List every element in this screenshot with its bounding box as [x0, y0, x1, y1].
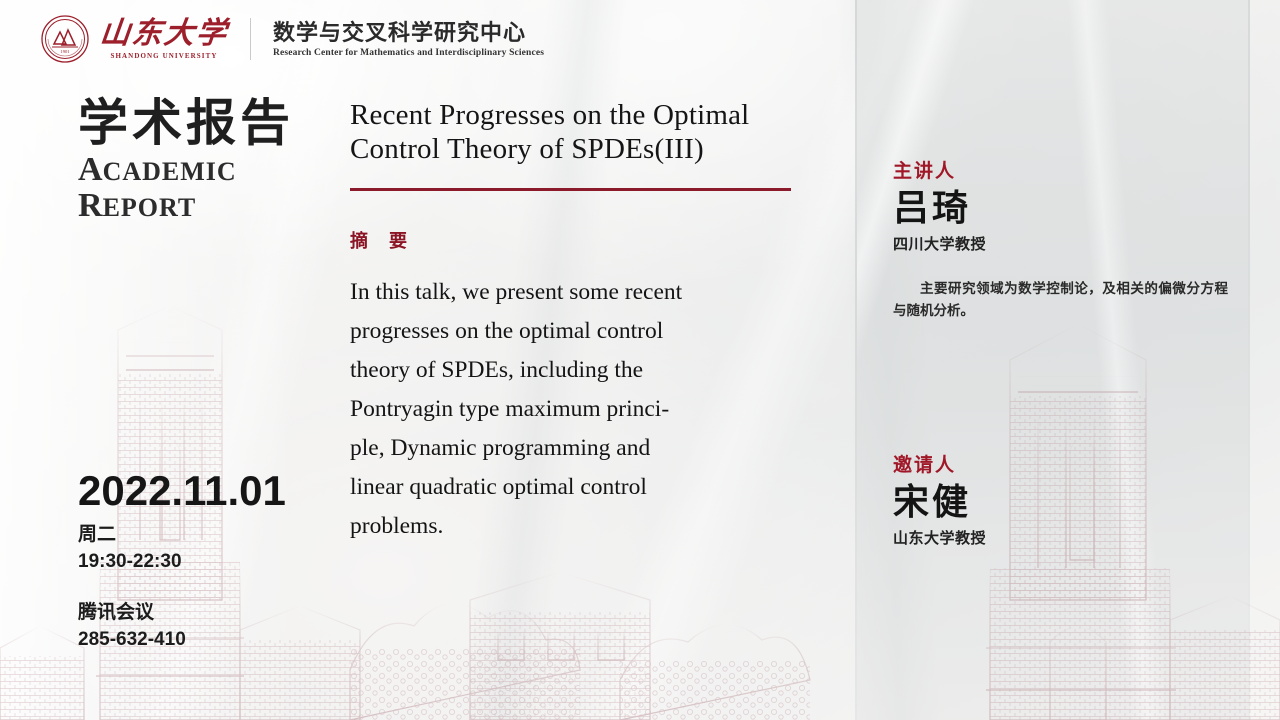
svg-text:1901: 1901 — [60, 49, 70, 54]
abstract-text: In this talk, we present some recent pro… — [350, 273, 770, 546]
inviter-affiliation: 山东大学教授 — [893, 527, 1253, 548]
speaker-affiliation: 四川大学教授 — [893, 233, 1253, 254]
abstract-line-5: ple, Dynamic programming and — [350, 429, 770, 468]
meeting-id: 285-632-410 — [78, 627, 286, 654]
inviter-name: 宋健 — [893, 481, 1253, 523]
abstract-line-3: theory of SPDEs, including the — [350, 351, 770, 390]
abstract-line-4: Pontryagin type maximum princi- — [350, 390, 770, 429]
right-info-panel — [857, 0, 1248, 720]
center-name-cn: 数学与交叉科学研究中心 — [273, 20, 544, 45]
panel-divider-right — [1248, 0, 1250, 720]
talk-title-line2: Control Theory of SPDEs(III) — [350, 132, 842, 166]
event-time: 19:30-22:30 — [78, 549, 286, 576]
meeting-info: 腾讯会议 285-632-410 — [78, 600, 286, 654]
academic-report-poster: 1901 山东大学 SHANDONG UNIVERSITY 数学与交叉科学研究中… — [0, 0, 1280, 720]
meeting-platform: 腾讯会议 — [78, 600, 286, 627]
talk-block: Recent Progresses on the Optimal Control… — [350, 98, 842, 546]
academic-rest: CADEMIC — [103, 157, 237, 186]
university-name-cn: 山东大学 — [98, 19, 229, 49]
abstract-line-2: progresses on the optimal control — [350, 312, 770, 351]
talk-title-line1: Recent Progresses on the Optimal — [350, 98, 842, 132]
event-weekday: 周二 — [78, 522, 286, 549]
shandong-university-crest-icon: 1901 — [40, 14, 90, 64]
center-name-en: Research Center for Mathematics and Inte… — [273, 48, 544, 58]
inviter-block: 邀请人 宋健 山东大学教授 — [893, 456, 1253, 548]
report-initial: R — [78, 187, 103, 224]
university-name-en: SHANDONG UNIVERSITY — [110, 52, 217, 60]
abstract-line-7: problems. — [350, 507, 770, 546]
sdu-wordmark: 山东大学 SHANDONG UNIVERSITY — [100, 19, 228, 60]
panel-divider-left — [855, 0, 857, 720]
speaker-block: 主讲人 吕琦 四川大学教授 — [893, 162, 1253, 254]
inviter-role-label: 邀请人 — [893, 456, 1253, 475]
poster-kind-en-line1: ACADEMIC — [78, 152, 328, 188]
poster-kind-block: 学术报告 ACADEMIC REPORT — [78, 96, 328, 224]
report-rest: EPORT — [103, 193, 197, 222]
schedule-block: 2022.11.01 周二 19:30-22:30 腾讯会议 285-632-4… — [78, 470, 286, 654]
abstract-line-6: linear quadratic optimal control — [350, 468, 770, 507]
event-weekday-time: 周二 19:30-22:30 — [78, 522, 286, 576]
speaker-role-label: 主讲人 — [893, 162, 1253, 181]
title-underline-rule — [350, 188, 791, 191]
speaker-bio: 主要研究领域为数学控制论，及相关的偏微分方程与随机分析。 — [893, 278, 1228, 322]
talk-title: Recent Progresses on the Optimal Control… — [350, 98, 842, 166]
institution-header: 1901 山东大学 SHANDONG UNIVERSITY 数学与交叉科学研究中… — [40, 14, 544, 64]
poster-kind-cn: 学术报告 — [78, 96, 328, 150]
event-date: 2022.11.01 — [78, 470, 286, 512]
research-center-names: 数学与交叉科学研究中心 Research Center for Mathemat… — [273, 20, 544, 57]
speaker-name: 吕琦 — [893, 187, 1253, 229]
header-separator — [250, 18, 251, 60]
academic-initial: A — [78, 151, 103, 188]
abstract-line-1: In this talk, we present some recent — [350, 273, 770, 312]
poster-kind-en-line2: REPORT — [78, 188, 328, 224]
poster-kind-en: ACADEMIC REPORT — [78, 152, 328, 224]
abstract-label: 摘 要 — [350, 227, 842, 253]
panel-sheen — [857, 0, 1248, 720]
